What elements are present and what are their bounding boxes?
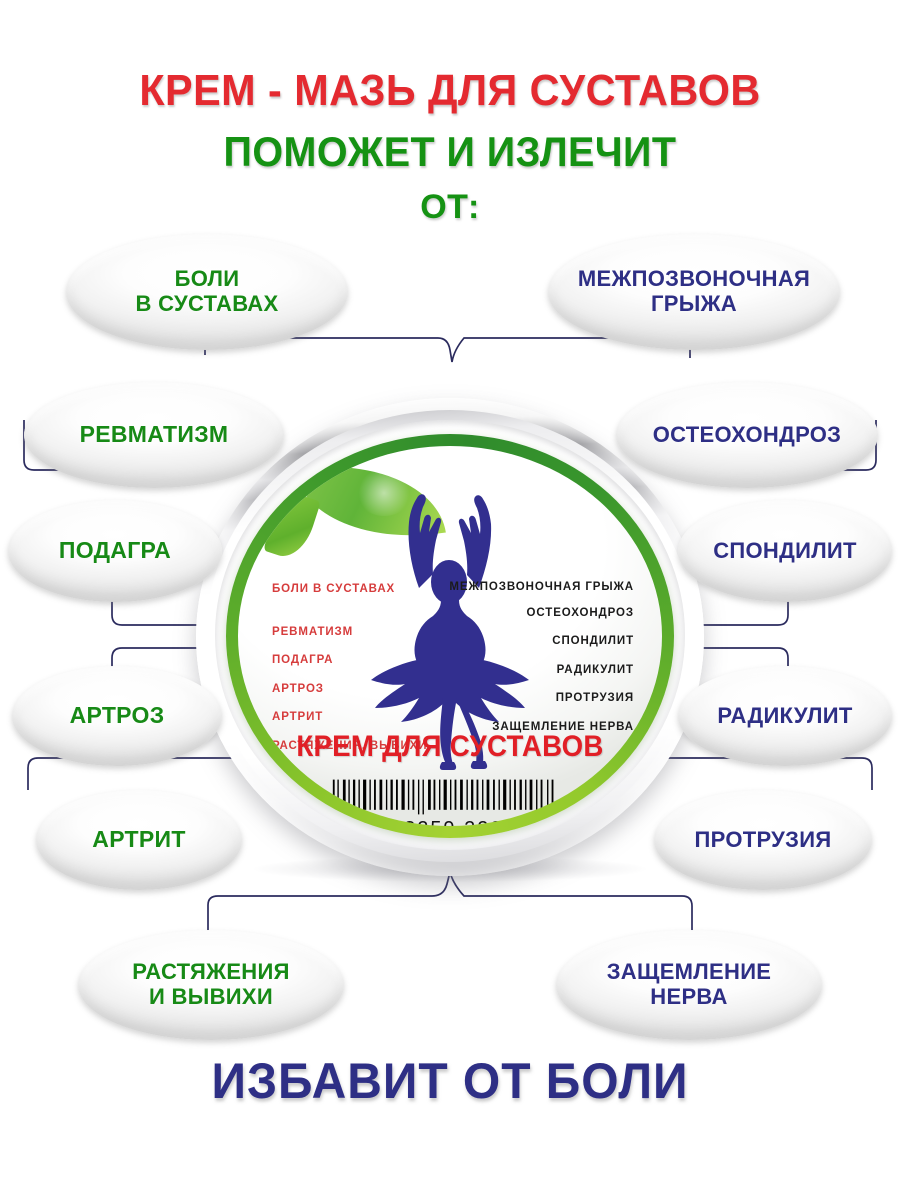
callout-line-1: БОЛИ xyxy=(175,266,240,291)
product-jar: БОЛИ В СУСТАВАХ РЕВМАТИЗМ ПОДАГРА АРТРОЗ… xyxy=(196,398,704,876)
callout-line-1: МЕЖПОЗВОНОЧНАЯ xyxy=(578,266,810,291)
callout-line-2: И ВЫВИХИ xyxy=(149,984,273,1009)
callout-zashchemlenie-nerva[interactable]: ЗАЩЕМЛЕНИЕНЕРВА xyxy=(556,930,822,1040)
jar-right-item: СПОНДИЛИТ xyxy=(444,636,634,648)
jar-right-item: ОСТЕОХОНДРОЗ xyxy=(444,608,634,620)
jar-left-item: БОЛИ В СУСТАВАХ xyxy=(272,584,448,596)
barcode-number: 2 043259 220513 xyxy=(238,818,662,826)
jar-label-face: БОЛИ В СУСТАВАХ РЕВМАТИЗМ ПОДАГРА АРТРОЗ… xyxy=(238,446,662,826)
poster-root: КРЕМ - МАЗЬ ДЛЯ СУСТАВОВ ПОМОЖЕТ И ИЗЛЕЧ… xyxy=(0,0,900,1200)
callout-line-1: РАДИКУЛИТ xyxy=(709,704,860,729)
callout-line-1: АРТРОЗ xyxy=(62,703,173,729)
callout-line-1: ЗАЩЕМЛЕНИЕ xyxy=(607,959,772,984)
callout-line-1: ПОДАГРА xyxy=(51,538,179,564)
callout-line-1: СПОНДИЛИТ xyxy=(705,539,865,564)
callout-line-1: РЕВМАТИЗМ xyxy=(72,422,237,448)
callout-line-2: В СУСТАВАХ xyxy=(136,291,279,316)
callout-artroz[interactable]: АРТРОЗ xyxy=(12,666,222,766)
jar-left-item: АРТРОЗ xyxy=(272,684,448,696)
callout-line-1: ПРОТРУЗИЯ xyxy=(687,828,840,853)
jar-left-item: ПОДАГРА xyxy=(272,655,448,667)
jar-symptom-list-right: МЕЖПОЗВОНОЧНАЯ ГРЫЖА ОСТЕОХОНДРОЗ СПОНДИ… xyxy=(444,582,634,750)
callout-podagra[interactable]: ПОДАГРА xyxy=(8,500,222,602)
jar-right-item: РАДИКУЛИТ xyxy=(444,665,634,677)
callout-artrit[interactable]: АРТРИТ xyxy=(36,790,242,890)
callout-rastyazheniya-i-vyvihi[interactable]: РАСТЯЖЕНИЯИ ВЫВИХИ xyxy=(78,930,344,1040)
callout-osteohondroz[interactable]: ОСТЕОХОНДРОЗ xyxy=(616,382,878,488)
callout-mezhpozvonochnaya-gryzha[interactable]: МЕЖПОЗВОНОЧНАЯГРЫЖА xyxy=(548,234,840,350)
callout-line-2: НЕРВА xyxy=(650,984,727,1009)
product-title: КРЕМ ДЛЯ СУСТАВОВ xyxy=(255,730,645,764)
jar-right-item: ПРОТРУЗИЯ xyxy=(444,693,634,705)
jar-left-item: РЕВМАТИЗМ xyxy=(272,627,448,639)
barcode-block: 2 043259 220513 xyxy=(238,778,662,826)
callout-radikulit[interactable]: РАДИКУЛИТ xyxy=(678,666,892,766)
callout-line-1: АРТРИТ xyxy=(84,827,193,853)
jar-left-item: АРТРИТ xyxy=(272,712,448,724)
jar-right-item: МЕЖПОЗВОНОЧНАЯ ГРЫЖА xyxy=(444,582,634,594)
callout-revmatizm[interactable]: РЕВМАТИЗМ xyxy=(24,382,284,488)
callout-spondilit[interactable]: СПОНДИЛИТ xyxy=(678,500,892,602)
barcode-icon xyxy=(331,778,569,816)
callout-line-2: ГРЫЖА xyxy=(651,291,737,316)
callout-line-1: ОСТЕОХОНДРОЗ xyxy=(645,423,850,448)
callout-protruziya[interactable]: ПРОТРУЗИЯ xyxy=(654,790,872,890)
callout-line-1: РАСТЯЖЕНИЯ xyxy=(132,959,289,984)
callout-boli-v-sustavah[interactable]: БОЛИВ СУСТАВАХ xyxy=(66,234,348,350)
